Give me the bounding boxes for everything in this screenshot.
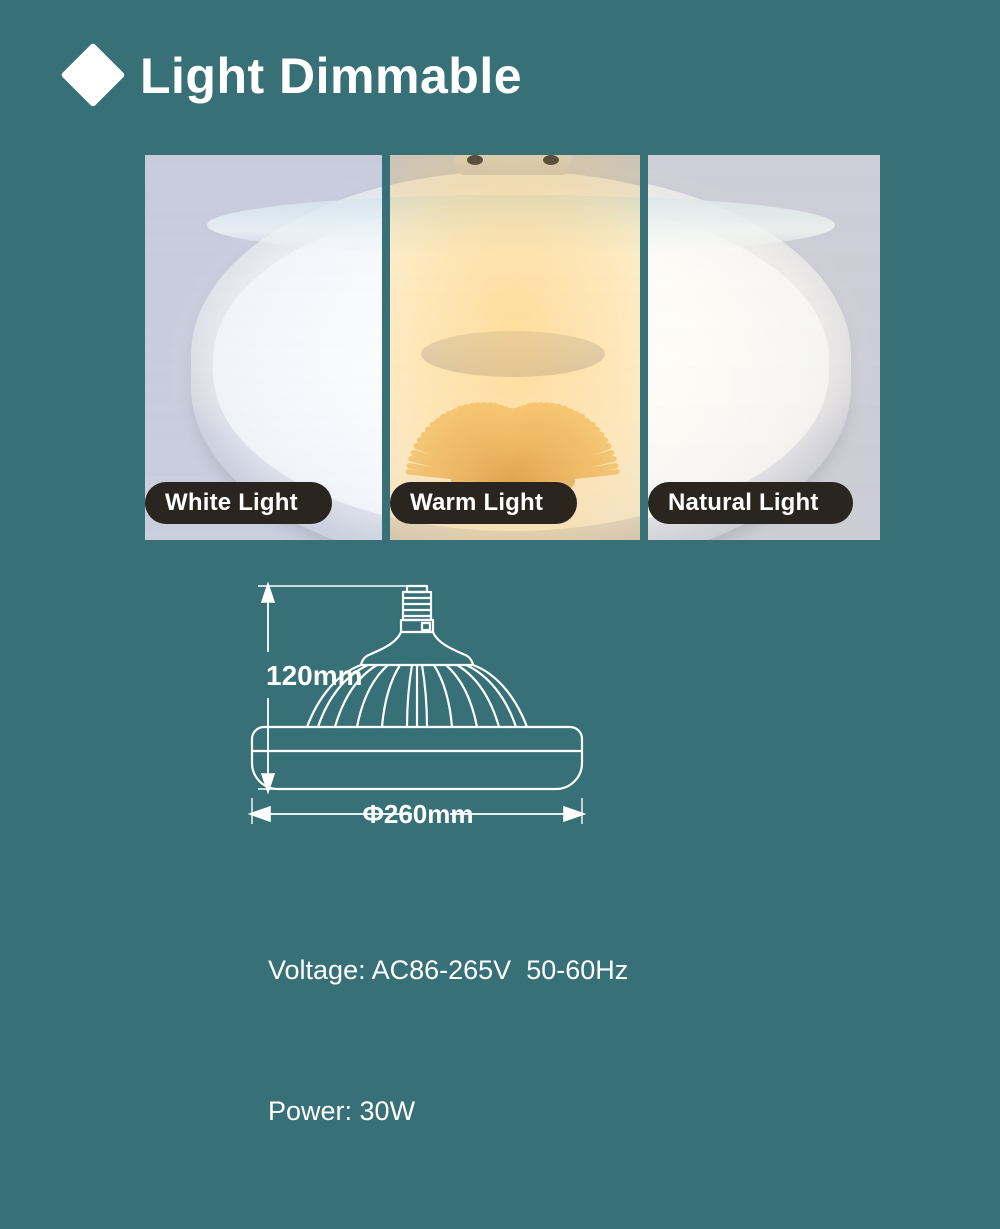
- dimension-diagram: 120mm Φ260mm: [240, 570, 780, 825]
- page-title: Light Dimmable: [140, 48, 522, 104]
- diffuser-rim: [648, 195, 835, 255]
- light-mode-gallery: White Light Warm Light: [145, 155, 880, 540]
- panel-label-warm-light: Warm Light: [390, 482, 577, 524]
- diamond-icon: [60, 42, 125, 107]
- height-dimension-label: 120mm: [266, 660, 363, 691]
- screw-icon: [467, 155, 483, 165]
- mount-bracket: [455, 155, 571, 175]
- e27-base-icon: [401, 586, 433, 632]
- product-infographic: Light Dimmable White Light: [0, 0, 1000, 1000]
- lamp-body: [252, 727, 582, 789]
- panel-label-white-light: White Light: [145, 482, 332, 524]
- gallery-panel-white-light[interactable]: White Light: [145, 155, 382, 540]
- width-dimension-label: Φ260mm: [363, 799, 474, 825]
- panel-label-natural-light: Natural Light: [648, 482, 853, 524]
- gallery-panel-natural-light[interactable]: Natural Light: [648, 155, 880, 540]
- spec-voltage: Voltage: AC86-265V 50-60Hz: [268, 947, 908, 994]
- diffuser-rim: [207, 195, 383, 255]
- gallery-panel-warm-light[interactable]: Warm Light: [390, 155, 640, 540]
- spec-power: Power: 30W: [268, 1088, 908, 1135]
- screw-icon: [543, 155, 559, 165]
- spec-list: Voltage: AC86-265V 50-60Hz Power: 30W: [268, 853, 908, 1229]
- dimension-drawing-svg: 120mm Φ260mm: [240, 570, 780, 825]
- fan-cap: [421, 331, 605, 377]
- diffuser-rim: [390, 195, 640, 255]
- header: Light Dimmable: [0, 0, 1000, 140]
